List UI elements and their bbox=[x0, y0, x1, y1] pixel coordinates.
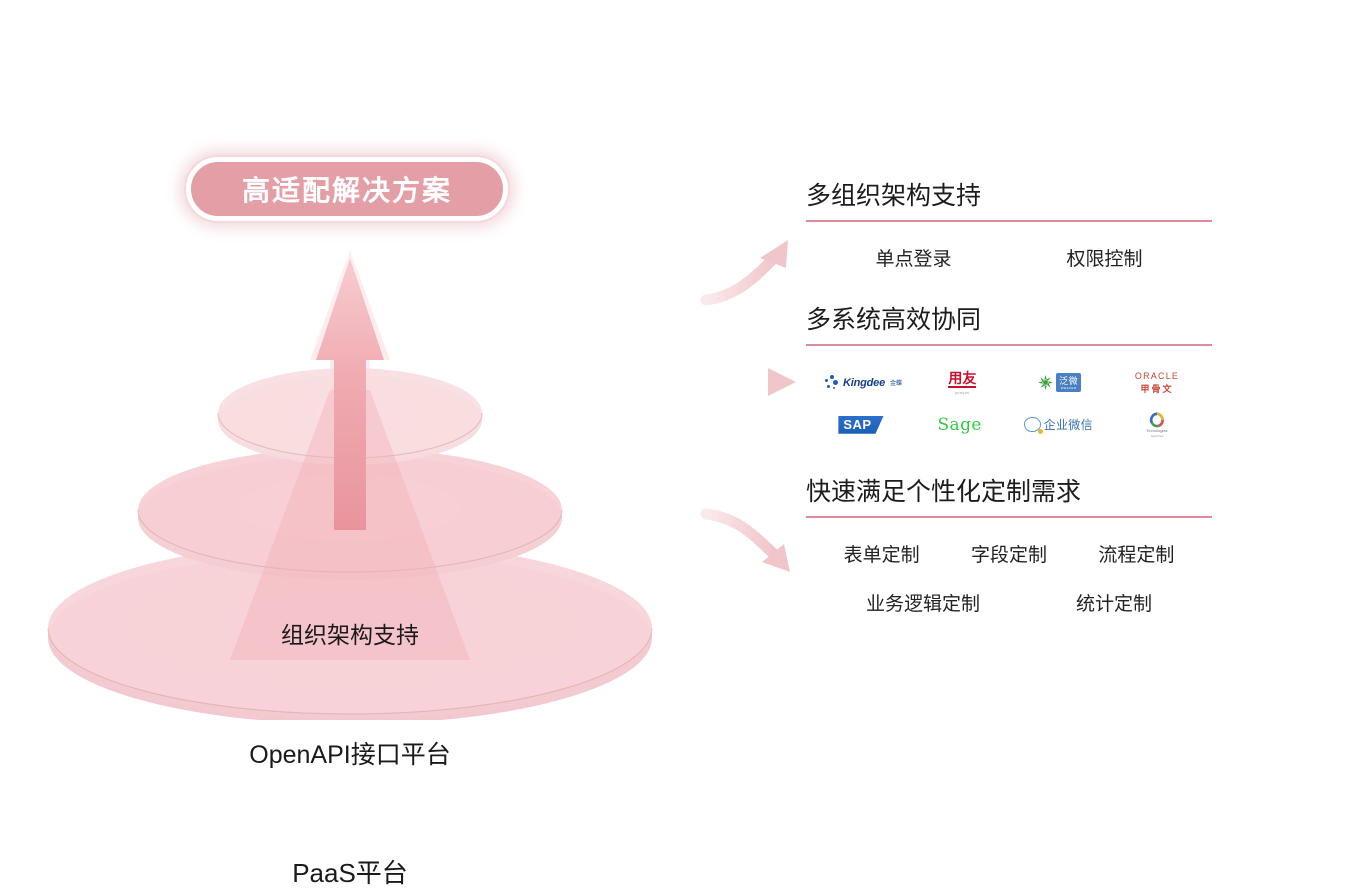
section-2-rule bbox=[806, 344, 1212, 346]
kingdee-logo-cn: 金蝶 bbox=[890, 378, 902, 387]
oracle-logo[interactable]: ORACLE 甲骨文 bbox=[1120, 366, 1194, 400]
wecom-bubble-icon bbox=[1024, 417, 1041, 432]
sections-panel: 多组织架构支持 单点登录 权限控制 多系统高效协同 Kingdee 金蝶 用友 bbox=[806, 180, 1226, 622]
kingdee-dots-icon bbox=[824, 375, 840, 391]
section-1-items: 单点登录 权限控制 bbox=[806, 244, 1212, 271]
wecom-logo-text: 企业微信 bbox=[1044, 416, 1093, 433]
section-multi-system: 多系统高效协同 Kingdee 金蝶 用友 yonyou bbox=[806, 304, 1226, 470]
sap-logo[interactable]: SAP bbox=[824, 408, 898, 442]
wecom-logo[interactable]: 企业微信 bbox=[1021, 408, 1095, 442]
yonyou-logo-text: 用友 bbox=[948, 371, 976, 388]
section-3-items-row-1: 表单定制 字段定制 流程定制 bbox=[806, 540, 1212, 567]
section-multi-org: 多组织架构支持 单点登录 权限控制 bbox=[806, 180, 1226, 298]
weaver-logo-sub: WEAVER bbox=[1059, 387, 1078, 391]
connector-arrow-3 bbox=[706, 514, 790, 572]
section-1-title: 多组织架构支持 bbox=[806, 180, 1226, 214]
kingdee-logo-text: Kingdee bbox=[843, 377, 885, 389]
connector-arrow-2 bbox=[704, 368, 796, 396]
connector-arrow-1 bbox=[706, 240, 788, 300]
connector-arrows bbox=[690, 210, 820, 610]
solution-title-text: 高适配解决方案 bbox=[242, 169, 452, 209]
oracle-logo-cn: 甲骨文 bbox=[1140, 382, 1173, 395]
partner-ring-logo-sub: Total Rise bbox=[1150, 434, 1163, 438]
integration-logo-row-2: SAP Sage 企业微信 bbox=[806, 404, 1212, 446]
integration-logo-grid: Kingdee 金蝶 用友 yonyou bbox=[806, 362, 1212, 446]
pyramid-tier-1-label: 组织架构支持 bbox=[0, 616, 700, 650]
pyramid-tier-3-label: PaaS平台 bbox=[0, 853, 700, 890]
pyramid-tier-2-label: OpenAPI接口平台 bbox=[0, 735, 700, 771]
sage-logo-text: Sage bbox=[937, 415, 981, 435]
kingdee-logo[interactable]: Kingdee 金蝶 bbox=[824, 366, 902, 400]
sage-logo[interactable]: Sage bbox=[923, 408, 997, 442]
item-process-customization[interactable]: 流程定制 bbox=[1098, 540, 1174, 567]
pyramid-stage: 组织架构支持 OpenAPI接口平台 PaaS平台 bbox=[0, 230, 700, 720]
item-sso[interactable]: 单点登录 bbox=[875, 244, 951, 271]
yonyou-logo[interactable]: 用友 yonyou bbox=[925, 366, 999, 400]
integration-logo-row-1: Kingdee 金蝶 用友 yonyou bbox=[806, 362, 1212, 404]
solution-title-pill: 高适配解决方案 bbox=[186, 157, 508, 221]
section-customization: 快速满足个性化定制需求 表单定制 字段定制 流程定制 业务逻辑定制 统计定制 bbox=[806, 476, 1226, 616]
yonyou-logo-sub: yonyou bbox=[955, 390, 970, 395]
section-3-title: 快速满足个性化定制需求 bbox=[806, 476, 1226, 510]
weaver-logo[interactable]: 泛微 WEAVER bbox=[1023, 366, 1097, 400]
color-ring-icon bbox=[1149, 412, 1164, 427]
partner-ring-logo-text: Tecnologias bbox=[1146, 428, 1167, 433]
oracle-logo-text: ORACLE bbox=[1135, 371, 1179, 381]
section-1-rule bbox=[806, 220, 1212, 222]
item-business-logic-customization[interactable]: 业务逻辑定制 bbox=[866, 589, 980, 616]
partner-ring-logo[interactable]: Tecnologias Total Rise bbox=[1120, 408, 1194, 442]
item-statistics-customization[interactable]: 统计定制 bbox=[1076, 589, 1152, 616]
item-form-customization[interactable]: 表单定制 bbox=[844, 540, 920, 567]
item-permission-control[interactable]: 权限控制 bbox=[1066, 244, 1142, 271]
section-3-items-row-2: 业务逻辑定制 统计定制 bbox=[806, 589, 1212, 616]
sap-logo-text: SAP bbox=[838, 416, 883, 434]
section-3-rule bbox=[806, 516, 1212, 518]
weaver-starburst-icon bbox=[1038, 375, 1053, 390]
pyramid-panel: 高适配解决方案 bbox=[0, 0, 700, 788]
section-2-title: 多系统高效协同 bbox=[806, 304, 1226, 338]
item-field-customization[interactable]: 字段定制 bbox=[971, 540, 1047, 567]
weaver-logo-text: 泛微 WEAVER bbox=[1056, 373, 1081, 392]
